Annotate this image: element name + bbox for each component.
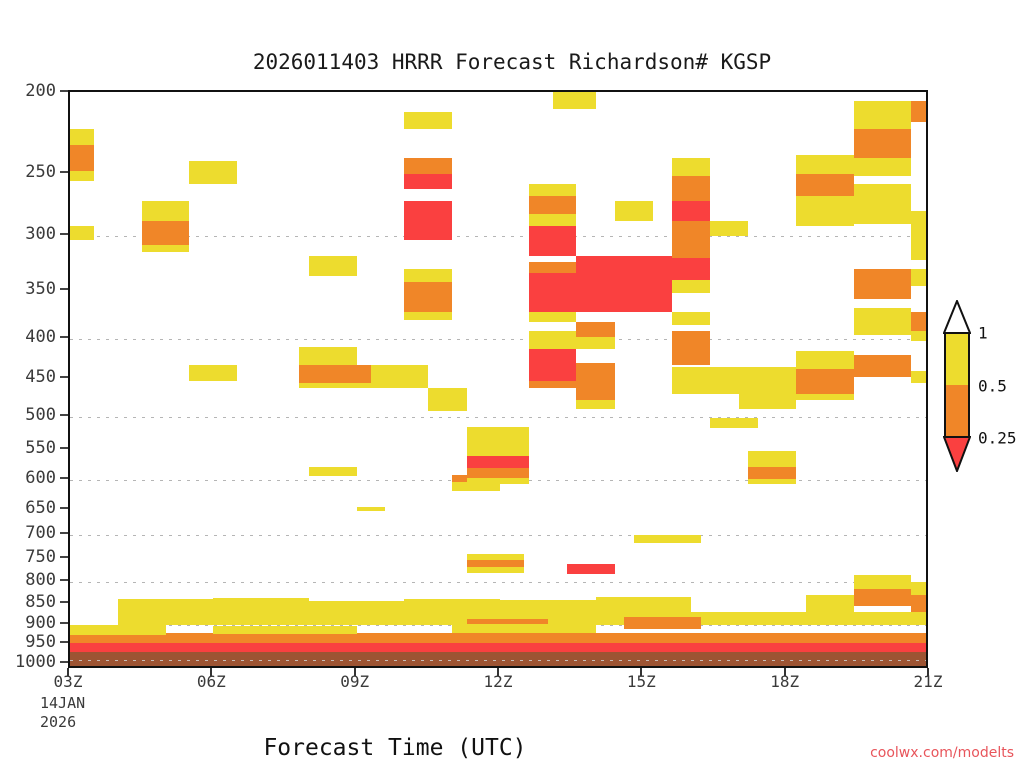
x-tick-mark <box>640 668 642 676</box>
heatmap-cell <box>710 418 758 427</box>
date-stamp: 14JAN2026 <box>40 694 85 732</box>
heatmap-cell <box>529 196 577 213</box>
heatmap-cell <box>911 582 928 595</box>
heatmap-cell <box>309 467 357 477</box>
y-tick-mark <box>60 622 68 624</box>
y-tick-mark <box>60 90 68 92</box>
heatmap-cell <box>142 201 190 221</box>
heatmap-cell <box>529 349 577 381</box>
heatmap-cell <box>404 293 452 312</box>
terrain-gridline <box>70 660 926 661</box>
heatmap-cell <box>529 226 577 256</box>
y-tick-mark <box>60 661 68 663</box>
y-tick-label: 350 <box>25 279 56 299</box>
heatmap-cell <box>404 269 452 282</box>
y-tick-label: 1000 <box>15 652 56 672</box>
heatmap-cell <box>309 256 357 276</box>
heatmap-cell <box>428 388 466 411</box>
heatmap-cell <box>796 174 853 196</box>
heatmap-cell <box>911 371 928 383</box>
heatmap-cell <box>624 617 700 629</box>
heatmap-cell <box>672 331 710 351</box>
heatmap-cell <box>576 256 672 312</box>
y-tick-label: 600 <box>25 468 56 488</box>
x-tick-mark <box>784 668 786 676</box>
y-tick-mark <box>60 532 68 534</box>
heatmap-cell <box>596 597 692 613</box>
heatmap-cell <box>748 467 796 479</box>
heatmap-cell <box>404 158 452 174</box>
colorbar-body <box>944 332 970 438</box>
heatmap-cell <box>806 595 854 612</box>
heatmap-cell <box>142 245 190 253</box>
heatmap-cell <box>500 600 596 614</box>
y-tick-mark <box>60 171 68 173</box>
heatmap-cell <box>467 560 524 567</box>
heatmap-cell <box>634 535 701 543</box>
heatmap-cell <box>529 262 577 273</box>
heatmap-cell <box>911 312 928 331</box>
heatmap-cell <box>118 599 214 614</box>
heatmap-cell <box>911 101 928 122</box>
heatmap-cell <box>796 155 853 174</box>
y-tick-mark <box>60 601 68 603</box>
colorbar-segment-orange <box>946 385 968 436</box>
heatmap-cell <box>672 258 710 280</box>
heatmap-cell <box>672 221 710 236</box>
colorbar-top-arrow-outline <box>943 300 971 334</box>
heatmap-cell <box>213 598 309 613</box>
heatmap-cell <box>70 625 166 635</box>
heatmap-cell <box>672 158 710 177</box>
y-tick-label: 650 <box>25 498 56 518</box>
heatmap-cell <box>576 322 614 337</box>
heatmap-cell <box>404 174 452 189</box>
heatmap-cell <box>854 101 911 129</box>
heatmap-cell <box>615 201 653 221</box>
plot-area <box>68 90 928 668</box>
y-tick-mark <box>60 641 68 643</box>
heatmap-cell <box>796 394 853 400</box>
y-tick-mark <box>60 288 68 290</box>
heatmap-cell <box>70 129 94 145</box>
y-tick-mark <box>60 579 68 581</box>
terrain-band <box>70 652 926 666</box>
y-tick-mark <box>60 233 68 235</box>
y-tick-label: 800 <box>25 570 56 590</box>
colorbar-label-1: 1 <box>978 324 988 343</box>
heatmap-cell <box>739 367 796 409</box>
heatmap-cell <box>467 427 529 440</box>
y-tick-mark <box>60 556 68 558</box>
page-title: 2026011403 HRRR Forecast Richardson# KGS… <box>0 50 1024 74</box>
x-tick-mark <box>354 668 356 676</box>
heatmap-cell <box>371 365 428 389</box>
heatmap-cell <box>70 171 94 182</box>
heatmap-cell <box>672 201 710 221</box>
heatmap-cell <box>467 567 524 573</box>
heatmap-cell <box>854 308 911 335</box>
heatmap-cell <box>142 221 190 245</box>
heatmap-cell <box>672 312 710 324</box>
y-tick-label: 550 <box>25 438 56 458</box>
heatmap-cell <box>70 226 94 240</box>
heatmap-cell <box>854 575 911 589</box>
heatmap-cell <box>796 196 853 226</box>
heatmap-cell <box>672 280 710 293</box>
heatmap-cell <box>213 626 356 634</box>
heatmap-cell <box>672 176 710 201</box>
y-tick-label: 300 <box>25 224 56 244</box>
y-tick-mark <box>60 336 68 338</box>
y-tick-mark <box>60 447 68 449</box>
heatmap-cell <box>189 161 237 184</box>
heatmap-cell <box>529 331 577 348</box>
heatmap-cell <box>672 236 710 258</box>
heatmap-cell <box>467 440 529 456</box>
heatmap-cell <box>529 381 577 389</box>
y-tick-mark <box>60 477 68 479</box>
heatmap-cell <box>911 211 928 260</box>
y-tick-mark <box>60 414 68 416</box>
heatmap-cell <box>70 145 94 171</box>
colorbar-segment-yellow <box>946 334 968 385</box>
heatmap-cell <box>452 624 595 633</box>
colorbar-label-0p25: 0.25 <box>978 429 1017 448</box>
heatmap-cell <box>553 90 596 109</box>
y-tick-label: 200 <box>25 81 56 101</box>
colorbar-bottom-arrow <box>943 436 971 472</box>
heatmap-cell <box>576 400 614 409</box>
y-tick-mark <box>60 376 68 378</box>
heatmap-cell <box>299 347 356 365</box>
heatmap-cell <box>854 269 911 299</box>
heatmap-cell <box>796 369 853 394</box>
chart-canvas: 2026011403 HRRR Forecast Richardson# KGS… <box>0 0 1024 768</box>
heatmap-cell <box>404 282 452 293</box>
heatmap-cell <box>911 269 928 286</box>
colorbar-label-0p5: 0.5 <box>978 377 1007 396</box>
y-tick-label: 400 <box>25 327 56 347</box>
heatmap-cell <box>309 601 405 613</box>
heatmap-cell <box>576 363 614 400</box>
heatmap-cell <box>576 337 614 349</box>
x-tick-mark <box>67 668 69 676</box>
heatmap-cell <box>854 129 911 158</box>
heatmap-cell <box>467 456 529 468</box>
heatmap-cell <box>529 312 577 322</box>
date-stamp-line: 14JAN <box>40 694 85 713</box>
y-tick-mark <box>60 507 68 509</box>
x-tick-mark <box>210 668 212 676</box>
heatmap-cell <box>452 482 500 490</box>
heatmap-cell <box>672 367 739 394</box>
heatmap-cell <box>748 479 796 484</box>
y-tick-label: 700 <box>25 523 56 543</box>
heatmap-cell <box>467 478 529 484</box>
heatmap-cell <box>357 507 386 511</box>
heatmap-cell <box>404 112 452 128</box>
heatmap-cell <box>672 351 710 365</box>
y-tick-label: 500 <box>25 405 56 425</box>
y-tick-label: 750 <box>25 547 56 567</box>
y-tick-label: 900 <box>25 613 56 633</box>
heatmap-cell <box>911 331 928 340</box>
heatmap-cell <box>404 201 452 240</box>
heatmap-cell <box>529 273 577 312</box>
heatmap-cell <box>710 221 748 236</box>
heatmap-cell <box>748 451 796 467</box>
heatmap-cell <box>854 184 911 224</box>
x-tick-mark <box>927 668 929 676</box>
heatmap-cell <box>467 468 529 478</box>
y-tick-label: 950 <box>25 632 56 652</box>
heatmap-cell <box>299 365 371 383</box>
heatmap-cell <box>529 214 577 226</box>
y-tick-label: 850 <box>25 592 56 612</box>
date-stamp-line: 2026 <box>40 713 85 732</box>
heatmap-cells <box>70 92 926 666</box>
watermark: coolwx.com/modelts <box>870 745 1014 761</box>
y-tick-label: 250 <box>25 162 56 182</box>
y-tick-label: 450 <box>25 367 56 387</box>
heatmap-cell <box>404 599 500 612</box>
heatmap-cell <box>567 564 615 574</box>
heatmap-cell <box>189 365 237 381</box>
heatmap-cell <box>529 184 577 196</box>
heatmap-cell <box>299 383 371 388</box>
x-tick-mark <box>497 668 499 676</box>
heatmap-cell <box>796 351 853 369</box>
colorbar-legend: 1 0.5 0.25 <box>938 300 1018 470</box>
heatmap-cell <box>854 158 911 177</box>
heatmap-cell <box>70 633 928 644</box>
x-axis-label: Forecast Time (UTC) <box>0 735 790 761</box>
heatmap-cell <box>404 312 452 320</box>
heatmap-cell <box>854 355 911 377</box>
